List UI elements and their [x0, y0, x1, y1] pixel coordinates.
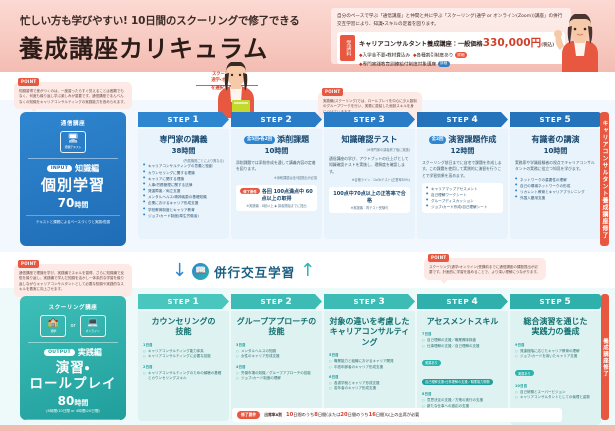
day-items: 労働市場の知識／グループアプローチの技能 ジョブ・カード制度の理解 — [236, 371, 317, 382]
input-pill: INPUT — [47, 165, 72, 172]
classroom-glyph: 🏫 — [48, 319, 59, 328]
top-step-4-title-text: 演習課題作成 — [448, 135, 496, 144]
step-label: STEP — [168, 298, 191, 306]
bottom-step-5-header: STEP5 — [510, 294, 601, 309]
step-number: 4 — [471, 297, 478, 307]
step-number: 5 — [564, 297, 571, 307]
bottom-step-1: STEP1 カウンセリングの 技能 1日目 キャリアコンサルティング能力体系 キ… — [138, 294, 229, 425]
schooling-hours-sub: (8時間・10日間 or 4時間・20日間) — [26, 409, 120, 414]
footer-num-d: 16 — [369, 412, 376, 418]
step-number: 1 — [192, 297, 199, 307]
day-label: 9日目 — [515, 342, 596, 348]
schooling-hours-value: 80 — [58, 394, 75, 408]
day-block: 6日目 各退学就とキャリア形成支援 若年者のキャリア形成支援 — [329, 374, 410, 392]
bottom-step-5: STEP5 総合演習を通じた 実践力の養成 9日目 発達段階に応じたキャリア教育… — [510, 294, 601, 425]
page-header: 忙しい方も学びやすい! 10日間のスクーリングで修了できる 養成講座カリキュラム… — [0, 0, 615, 72]
list-item: 女性のキャリア形成支援 — [236, 354, 317, 359]
header-person-illustration — [548, 14, 610, 72]
top-step-1-hours: 38時間 — [143, 146, 224, 156]
step-number: 5 — [564, 115, 571, 125]
point-callout-1: POINT 知識習得で差がつくのは、一度習ったらすぐ覚えることは困難でもなく、何… — [14, 82, 132, 109]
list-item: キャリアコンサルタントとしての倫理と姿勢 — [515, 395, 596, 400]
point-badge: POINT — [18, 78, 39, 86]
day-items: 自己研鑽とスーパービジョン キャリアコンサルタントとしての倫理と姿勢 — [515, 390, 596, 401]
bottom-step-3-body: 対象の違いを考慮した キャリアコンサルティング 5日目 職業能力と組織におけるキ… — [324, 311, 415, 421]
top-step-2-header: STEP2 — [231, 112, 322, 127]
day-label: 10日目 — [515, 383, 596, 389]
day-label: 5日目 — [329, 352, 410, 358]
top-step-4-hours: 12時間 — [422, 146, 503, 156]
day-unit: 日目 — [518, 343, 525, 347]
footer-num-c: 20 — [340, 412, 347, 418]
middle-band: ↓ 📖 併行交互学習 ↑ — [136, 252, 615, 290]
correspondence-hours: 70時間 — [26, 196, 120, 210]
list-item: 外国人雇用支援 — [515, 195, 596, 201]
top-step-2-badge: 修了要件各回 100点満点中 60点以上の取得 ※実践編 - 8割以上 ◆ 講義… — [236, 185, 317, 211]
day-unit: 日目 — [520, 384, 527, 388]
top-step-2-tag: 全5回・各2回 — [244, 136, 275, 144]
badge-main: 100点中70点以上の正答率で合格 — [333, 190, 406, 204]
laptop-caption: 通信テキスト — [65, 145, 82, 149]
step-label: STEP — [354, 116, 377, 124]
day-block: 9日目 発達段階に応じたキャリア教育の理解 ジョブ・カードを用いたキャリア支援 … — [515, 342, 596, 379]
day-label: 7日目 — [422, 331, 503, 337]
day-items: 職業能力と組織におけるキャリア開発 中高年齢者のキャリア形成支援 — [329, 359, 410, 370]
price-value: 330,000円 — [483, 37, 541, 49]
list-item: キャリアコンサルティングのための傾聴の基礎とカウンセリングスキル — [143, 371, 224, 382]
online-glyph: 💻 — [87, 319, 98, 328]
day-items: キャリアコンサルティングのための傾聴の基礎とカウンセリングスキル — [143, 371, 224, 382]
step-number: 4 — [471, 115, 478, 125]
top-step-4-tag: 全2回 — [429, 136, 447, 144]
top-step-4-body: 全2回演習課題作成 12時間 スクーリング前日までに自宅で課題を作成します。この… — [417, 129, 508, 239]
top-steps-row: STEP1 専門家の講義 38時間 (所属機関ごとにより異なる) キャリアコンサ… — [138, 112, 601, 239]
center-person-illustration — [210, 62, 262, 118]
footer-text: 10日間のうち8日間(または20日間のうち16日間)以上の出席が必要 — [286, 412, 419, 418]
day-unit: 日目 — [332, 353, 339, 357]
bottom-step-3-title-2: キャリアコンサルティング — [329, 327, 410, 348]
top-step-1: STEP1 専門家の講義 38時間 (所属機関ごとにより異なる) キャリアコンサ… — [138, 112, 229, 239]
footer-unit-d: 日間)以上の出席が必要 — [376, 412, 420, 417]
arrow-up-icon: ↑ — [300, 262, 315, 280]
correspondence-mode-label: 知識編 — [75, 164, 99, 173]
day-block: 4日目 労働市場の知識／グループアプローチの技能 ジョブ・カード制度の理解 — [236, 364, 317, 382]
laptop-icon: 🖥 通信テキスト — [60, 131, 86, 153]
footer-unit-c: 日間のうち — [348, 412, 369, 417]
step-label: STEP — [540, 116, 563, 124]
middle-band-label: 併行交互学習 — [214, 262, 295, 281]
schooling-hours-unit: 時間 — [74, 399, 88, 407]
top-step-3-header: STEP3 — [324, 112, 415, 127]
footer-pill: 修了要件 — [237, 411, 260, 419]
bottom-step-4-body: アセスメントスキル 7日目 自己理解の支援／職業興味検査 仕事理解の支援／自己理… — [417, 311, 508, 421]
online-icon: 💻 オンライン — [80, 315, 106, 337]
correspondence-hours-unit: 時間 — [74, 201, 88, 209]
price-bullet-2-text: 専門実践教育訓練給付制度対象講座 — [363, 62, 437, 67]
divider — [28, 158, 118, 159]
day-label: 6日目 — [329, 374, 410, 380]
schooling-course-panel: スクーリング講座 🏫 通学 or 💻 オンライン OUTPUT実践編 演習・ ロ… — [20, 296, 126, 420]
practice-chip: 実習あり — [515, 370, 534, 376]
point-callout-2-text: 通信講座で理論を学び、実践編でスキルを習得、さらに知識編で反復を繰り返し、実践編… — [19, 271, 124, 291]
bottom-step-1-title-1: カウンセリングの — [143, 317, 224, 327]
step-number: 3 — [378, 115, 385, 125]
day-unit: 日目 — [425, 392, 432, 396]
header-lead-text: 自分のペースで学ぶ「通信講座」と仲間と共に学ぶ「スクーリング(通学 or オンラ… — [337, 13, 565, 28]
list-item: ジョブ・カード作成・自己理解シート — [426, 204, 499, 210]
day-unit: 日目 — [239, 365, 246, 369]
price-line: キャリアコンサルタント養成講座：一般価格330,000円(税込) — [359, 35, 561, 50]
step-label: STEP — [447, 116, 470, 124]
schooling-kind: スクーリング講座 — [26, 303, 120, 311]
price-bullet-1-text: 入学金不要・教材費込み — [363, 54, 411, 59]
top-step-5-title: 有識者の講演 — [515, 135, 596, 145]
top-step-4-bullets: キャリアマップアセスメント 自己理解ワークシート グループディスカッション ジョ… — [426, 186, 499, 211]
point-badge: POINT — [18, 260, 39, 268]
top-step-5: STEP5 有識者の講演 10時間 実務家や学識経験者の視点でキャリアコンサルタ… — [510, 112, 601, 239]
top-step-2-note: ※添削課題は全5回提出が必須 — [236, 175, 317, 180]
top-step-4-card: キャリアマップアセスメント 自己理解ワークシート グループディスカッション ジョ… — [422, 183, 503, 214]
price-tag-label: 受講料 — [340, 35, 355, 61]
bottom-step-1-title-2: 技能 — [143, 327, 224, 337]
middle-band-core: ↓ 📖 併行交互学習 ↑ — [172, 262, 315, 281]
list-item: 仕事理解の支援／自己理解の支援 — [422, 344, 503, 349]
correspondence-footer: テキストと課題によるベースづくりと実践・復習 — [26, 215, 120, 225]
list-item: ジョブ・カードを用いたキャリア支援 — [515, 354, 596, 359]
list-item: 中高年齢者のキャリア形成支援 — [329, 365, 410, 370]
top-step-2-title-text: 添削課題 — [277, 135, 309, 144]
day-block: 2日目 キャリアコンサルティングのための傾聴の基礎とカウンセリングスキル — [143, 364, 224, 382]
correspondence-hours-value: 70 — [58, 196, 75, 210]
bottom-step-2-title-2: 技能 — [236, 327, 317, 337]
bottom-step-4-header: STEP4 — [417, 294, 508, 309]
output-pill: OUTPUT — [44, 349, 75, 356]
bottom-step-3: STEP3 対象の違いを考慮した キャリアコンサルティング 5日目 職業能力と組… — [324, 294, 415, 425]
page-title: 養成講座カリキュラム — [19, 29, 268, 64]
price-bullet-2: ◆専門実践教育訓練給付制度対象講座 詳細 — [359, 61, 561, 68]
top-step-4: STEP4 全2回演習課題作成 12時間 スクーリング前日までに自宅で課題を作成… — [417, 112, 508, 239]
correspondence-kind: 通信講座 — [26, 119, 120, 127]
vertical-tab-completion-teal: 養成講座修了 — [601, 294, 609, 420]
badge-pill: 修了要件 — [240, 188, 260, 194]
day-label: 2日目 — [143, 364, 224, 370]
step-label: STEP — [261, 116, 284, 124]
step-label: STEP — [540, 298, 563, 306]
schooling-name-line2: ロールプレイ — [26, 377, 120, 393]
bottom-step-3-title-1: 対象の違いを考慮した — [329, 317, 410, 327]
day-items: 各退学就とキャリア形成支援 若年者のキャリア形成支援 — [329, 381, 410, 392]
book-icon: 📖 — [192, 263, 209, 280]
step-number: 1 — [192, 115, 199, 125]
laptop-glyph: 🖥 — [67, 135, 78, 144]
top-step-5-header: STEP5 — [510, 112, 601, 127]
day-items: 自己理解の支援／職業興味検査 仕事理解の支援／自己理解の支援 — [422, 338, 503, 349]
bottom-step-2: STEP2 グループアプローチの 技能 3日目 メンタルヘルスの知識 女性のキャ… — [231, 294, 322, 425]
schooling-hours: 80時間 — [26, 394, 120, 408]
list-item: 若年者のキャリア形成支援 — [329, 386, 410, 391]
arrow-down-icon: ↓ — [172, 262, 187, 280]
correspondence-course-panel: 通信講座 🖥 通信テキスト INPUT知識編 個別学習 70時間 テキストと課題… — [20, 112, 126, 246]
classroom-icon: 🏫 通学 — [40, 315, 66, 337]
list-item: ジョブ・カード制度の理解 — [236, 376, 317, 381]
day-block: 7日目 自己理解の支援／職業興味検査 仕事理解の支援／自己理解の支援 実習あり … — [422, 331, 503, 387]
bottom-step-2-body: グループアプローチの 技能 3日目 メンタルヘルスの知識 女性のキャリア形成支援… — [231, 311, 322, 421]
list-item: ジョブ・カード制度(厚生労働省) — [143, 213, 224, 219]
bottom-rule — [0, 425, 615, 431]
top-step-2-body: 全5回・各2回添削課題 10時間 添削課題では添削作成を通して講義内容の定着を図… — [231, 129, 322, 239]
day-label: 3日目 — [236, 342, 317, 348]
price-title: キャリアコンサルタント養成講座：一般価格 — [359, 41, 483, 48]
day-label: 4日目 — [236, 364, 317, 370]
top-step-5-body: 有識者の講演 10時間 実務家や学識経験者の視点でキャリアコンサルタントの実務に… — [510, 129, 601, 239]
day-items: メンタルヘルスの知識 女性のキャリア形成支援 — [236, 349, 317, 360]
badge-main-text: 各回 100点満点中 60点以上の取得 — [261, 189, 312, 202]
bottom-step-2-title-1: グループアプローチの — [236, 317, 317, 327]
top-step-1-header: STEP1 — [138, 112, 229, 127]
day-unit: 日目 — [332, 375, 339, 379]
top-step-2: STEP2 全5回・各2回添削課題 10時間 添削課題では添削作成を通して講義内… — [231, 112, 322, 239]
divider — [28, 342, 118, 343]
step-number: 2 — [285, 297, 292, 307]
price-bullet-1: ◆入学金不要・教材費込み ◆各種割引制度あり 詳細 — [359, 52, 561, 59]
practice-chip: 実習あり — [422, 360, 441, 366]
day-unit: 日目 — [425, 332, 432, 336]
practice-chip-wide: 自己理解支援・仕事理解の支援／職業能力開発 — [422, 379, 493, 385]
bottom-step-1-body: カウンセリングの 技能 1日目 キャリアコンサルティング能力体系 キャリアコンサ… — [138, 311, 229, 421]
top-step-1-body: 専門家の講義 38時間 (所属機関ごとにより異なる) キャリアコンサルティングの… — [138, 129, 229, 239]
top-step-3: STEP3 知識確認テスト (※専門家の講義終了後に実施) 通信講座の学び、アウ… — [324, 112, 415, 239]
top-step-2-desc: 添削課題では添削作成を通して講義内容の定着を図ります。 — [236, 160, 317, 172]
step-label: STEP — [261, 298, 284, 306]
top-step-1-bullets: キャリアコンサルティングの意義と役割 カウンセリングに関する理論 キャリアに関す… — [143, 163, 224, 219]
badge-main: 修了要件各回 100点満点中 60点以上の取得 — [240, 188, 313, 202]
vertical-tab-completion-blue: キャリアコンサルタント養成講座修了 — [600, 112, 609, 246]
top-step-3-badge: 100点中70点以上の正答率で合格 ※実践編：再テスト受験可 — [329, 187, 410, 213]
bottom-step-3-header: STEP3 — [324, 294, 415, 309]
step-label: STEP — [168, 116, 191, 124]
bottom-step-1-header: STEP1 — [138, 294, 229, 309]
bottom-step-5-title-1: 総合演習を通じた — [515, 317, 596, 327]
point-callout-1-text: 知識習得で差がつくのは、一度習ったらすぐ覚えることは困難でもなく、何度も繰り返し… — [19, 89, 127, 104]
price-info-box: 自分のペースで学ぶ「通信講座」と仲間と共に学ぶ「スクーリング(通学 or オンラ… — [331, 8, 571, 64]
footer-unit-a: 日間のうち — [293, 412, 314, 417]
bottom-step-5-title-2: 実践力の養成 — [515, 327, 596, 337]
day-unit: 日目 — [146, 365, 153, 369]
point-badge: POINT — [322, 88, 343, 96]
top-step-5-hours: 10時間 — [515, 146, 596, 156]
badge-sub: ※実践編 - 8割以上 ◆ 講義開始までに提出 — [240, 203, 313, 208]
top-step-3-desc2: ※合格ライン：GoToテスト(正答率80%) — [329, 177, 410, 182]
schooling-mode: OUTPUT実践編 — [26, 347, 120, 358]
price-card: 受講料 キャリアコンサルタント養成講座：一般価格330,000円(税込) ◆入学… — [337, 32, 565, 64]
top-step-5-desc: 実務家や学識経験者の視点でキャリアコンサルタントの実務に役立つ知見を学びます。 — [515, 160, 596, 172]
day-label: 1日目 — [143, 342, 224, 348]
top-step-4-header: STEP4 — [417, 112, 508, 127]
day-items: キャリアコンサルティング能力体系 キャリアコンサルティングに必要な技能 — [143, 349, 224, 360]
top-step-3-desc: 通信講座の学び、アウトプットの仕上げとして知識確認テストを実施し、理解度を確認し… — [329, 156, 410, 174]
or-label: or — [70, 323, 75, 329]
top-step-4-desc: スクーリング前日までに自宅で課題を作成します。この課題を使用して実践的に演習を行… — [422, 160, 503, 178]
day-items: 発達段階に応じたキャリア教育の理解 ジョブ・カードを用いたキャリア支援 — [515, 349, 596, 360]
day-block: 5日目 職業能力と組織におけるキャリア開発 中高年齢者のキャリア形成支援 — [329, 352, 410, 370]
list-item: キャリアコンサルティングに必要な技能 — [143, 354, 224, 359]
footer-note: 修了要件 出席率8割 10日間のうち8日間(または20日間のうち16日間)以上の… — [232, 408, 562, 422]
correspondence-icon-row: 🖥 通信テキスト — [26, 131, 120, 153]
header-subtitle: 忙しい方も学びやすい! 10日間のスクーリングで修了できる — [20, 13, 300, 28]
classroom-caption: 通学 — [51, 329, 57, 333]
step-number: 2 — [285, 115, 292, 125]
day-block: 8日目 意思決定の支援／方策の実行の支援 新たな仕事への適応の支援 — [422, 391, 503, 409]
top-step-2-title: 全5回・各2回添削課題 — [236, 135, 317, 145]
top-step-1-title: 専門家の講義 — [143, 135, 224, 145]
top-step-4-title: 全2回演習課題作成 — [422, 135, 503, 145]
bottom-steps-row: STEP1 カウンセリングの 技能 1日目 キャリアコンサルティング能力体系 キ… — [138, 294, 601, 425]
correspondence-name: 個別学習 — [26, 177, 120, 194]
day-unit: 日目 — [239, 343, 246, 347]
discount-detail-pill[interactable]: 詳細 — [455, 52, 467, 58]
top-step-3-note: (※専門家の講義終了後に実施) — [329, 147, 410, 152]
step-label: STEP — [447, 298, 470, 306]
top-step-5-bullets: ネットワークの重要性の理解 自己の環境ネットワークの形成 リカレント教育とキャリ… — [515, 177, 596, 202]
badge-sub: ※実践編：再テスト受験可 — [333, 205, 406, 210]
subsidy-detail-pill[interactable]: 詳細 — [438, 61, 450, 67]
top-step-3-title: 知識確認テスト — [329, 135, 410, 145]
footer-label: 出席率8割 — [264, 412, 282, 418]
day-label: 8日目 — [422, 391, 503, 397]
bottom-step-2-header: STEP2 — [231, 294, 322, 309]
point-callout-2: POINT 通信講座で理論を学び、実践編でスキルを習得、さらに知識編で反復を繰り… — [14, 264, 132, 297]
schooling-mode-label: 実践編 — [78, 348, 102, 357]
bottom-step-4-title-1: アセスメントスキル — [422, 317, 503, 327]
price-bullet-1b-text: 各種割引制度あり — [417, 54, 454, 59]
infographic-page: 忙しい方も学びやすい! 10日間のスクーリングで修了できる 養成講座カリキュラム… — [0, 0, 615, 431]
schooling-name-line1: 演習・ — [26, 361, 120, 377]
online-caption: オンライン — [86, 329, 100, 333]
schooling-icon-row: 🏫 通学 or 💻 オンライン — [26, 315, 120, 337]
step-number: 3 — [378, 297, 385, 307]
step-label: STEP — [354, 298, 377, 306]
day-block: 3日目 メンタルヘルスの知識 女性のキャリア形成支援 — [236, 342, 317, 360]
bottom-step-4: STEP4 アセスメントスキル 7日目 自己理解の支援／職業興味検査 仕事理解の… — [417, 294, 508, 425]
correspondence-mode: INPUT知識編 — [26, 163, 120, 174]
top-step-2-hours: 10時間 — [236, 146, 317, 156]
footer-unit-b: 日間(または — [318, 412, 341, 417]
day-block: 1日目 キャリアコンサルティング能力体系 キャリアコンサルティングに必要な技能 — [143, 342, 224, 360]
day-unit: 日目 — [146, 343, 153, 347]
top-step-3-body: 知識確認テスト (※専門家の講義終了後に実施) 通信講座の学び、アウトプットの仕… — [324, 129, 415, 239]
